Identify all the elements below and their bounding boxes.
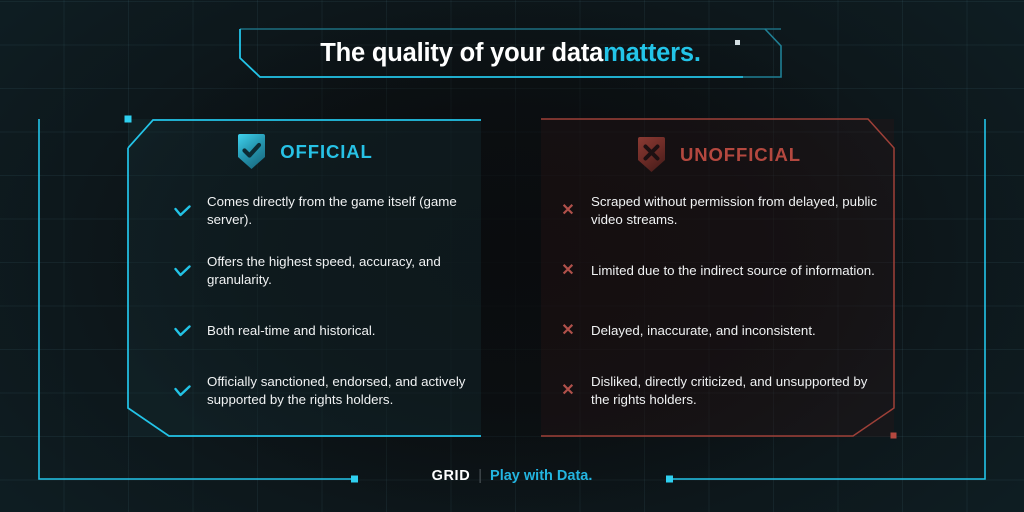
check-icon bbox=[167, 265, 197, 277]
list-item-text: Delayed, inaccurate, and inconsistent. bbox=[591, 322, 881, 341]
page-title: The quality of your data matters. bbox=[238, 28, 783, 78]
footer-separator: | bbox=[478, 468, 482, 484]
list-item: ✕ Delayed, inaccurate, and inconsistent. bbox=[553, 301, 907, 361]
list-item-text: Offers the highest speed, accuracy, and … bbox=[207, 253, 477, 290]
shield-x-icon bbox=[635, 136, 668, 173]
check-icon bbox=[167, 385, 197, 397]
official-list: Comes directly from the game itself (gam… bbox=[167, 181, 521, 421]
title-banner: The quality of your data matters. bbox=[238, 28, 783, 78]
cross-icon: ✕ bbox=[553, 203, 583, 219]
list-item: ✕ Scraped without permission from delaye… bbox=[553, 181, 907, 241]
list-item: Offers the highest speed, accuracy, and … bbox=[167, 241, 521, 301]
list-item-text: Both real-time and historical. bbox=[207, 322, 477, 341]
official-header: OFFICIAL bbox=[127, 133, 481, 170]
title-accent: matters. bbox=[603, 39, 701, 68]
check-icon bbox=[167, 325, 197, 337]
brand-name: GRID bbox=[432, 468, 471, 484]
list-item: Comes directly from the game itself (gam… bbox=[167, 181, 521, 241]
list-item-text: Limited due to the indirect source of in… bbox=[591, 262, 881, 281]
list-item-text: Officially sanctioned, endorsed, and act… bbox=[207, 373, 477, 410]
official-label: OFFICIAL bbox=[280, 141, 373, 163]
list-item: ✕ Limited due to the indirect source of … bbox=[553, 241, 907, 301]
list-item-text: Scraped without permission from delayed,… bbox=[591, 193, 881, 230]
unofficial-card: UNOFFICIAL ✕ Scraped without permission … bbox=[541, 118, 895, 438]
list-item-text: Comes directly from the game itself (gam… bbox=[207, 193, 477, 230]
official-card: OFFICIAL Comes directly from the game it… bbox=[127, 118, 481, 438]
unofficial-header: UNOFFICIAL bbox=[541, 136, 895, 173]
slide-canvas: The quality of your data matters. bbox=[0, 0, 1024, 512]
list-item-text: Disliked, directly criticized, and unsup… bbox=[591, 373, 881, 410]
unofficial-label: UNOFFICIAL bbox=[680, 144, 801, 166]
cross-icon: ✕ bbox=[553, 383, 583, 399]
brand-tagline: Play with Data. bbox=[490, 468, 592, 484]
shield-check-icon bbox=[235, 133, 268, 170]
cross-icon: ✕ bbox=[553, 263, 583, 279]
check-icon bbox=[167, 205, 197, 217]
list-item: Officially sanctioned, endorsed, and act… bbox=[167, 361, 521, 421]
list-item: ✕ Disliked, directly criticized, and uns… bbox=[553, 361, 907, 421]
footer-logo: GRID | Play with Data. bbox=[0, 468, 1024, 484]
list-item: Both real-time and historical. bbox=[167, 301, 521, 361]
title-main: The quality of your data bbox=[320, 39, 603, 68]
cross-icon: ✕ bbox=[553, 323, 583, 339]
unofficial-list: ✕ Scraped without permission from delaye… bbox=[553, 181, 907, 421]
